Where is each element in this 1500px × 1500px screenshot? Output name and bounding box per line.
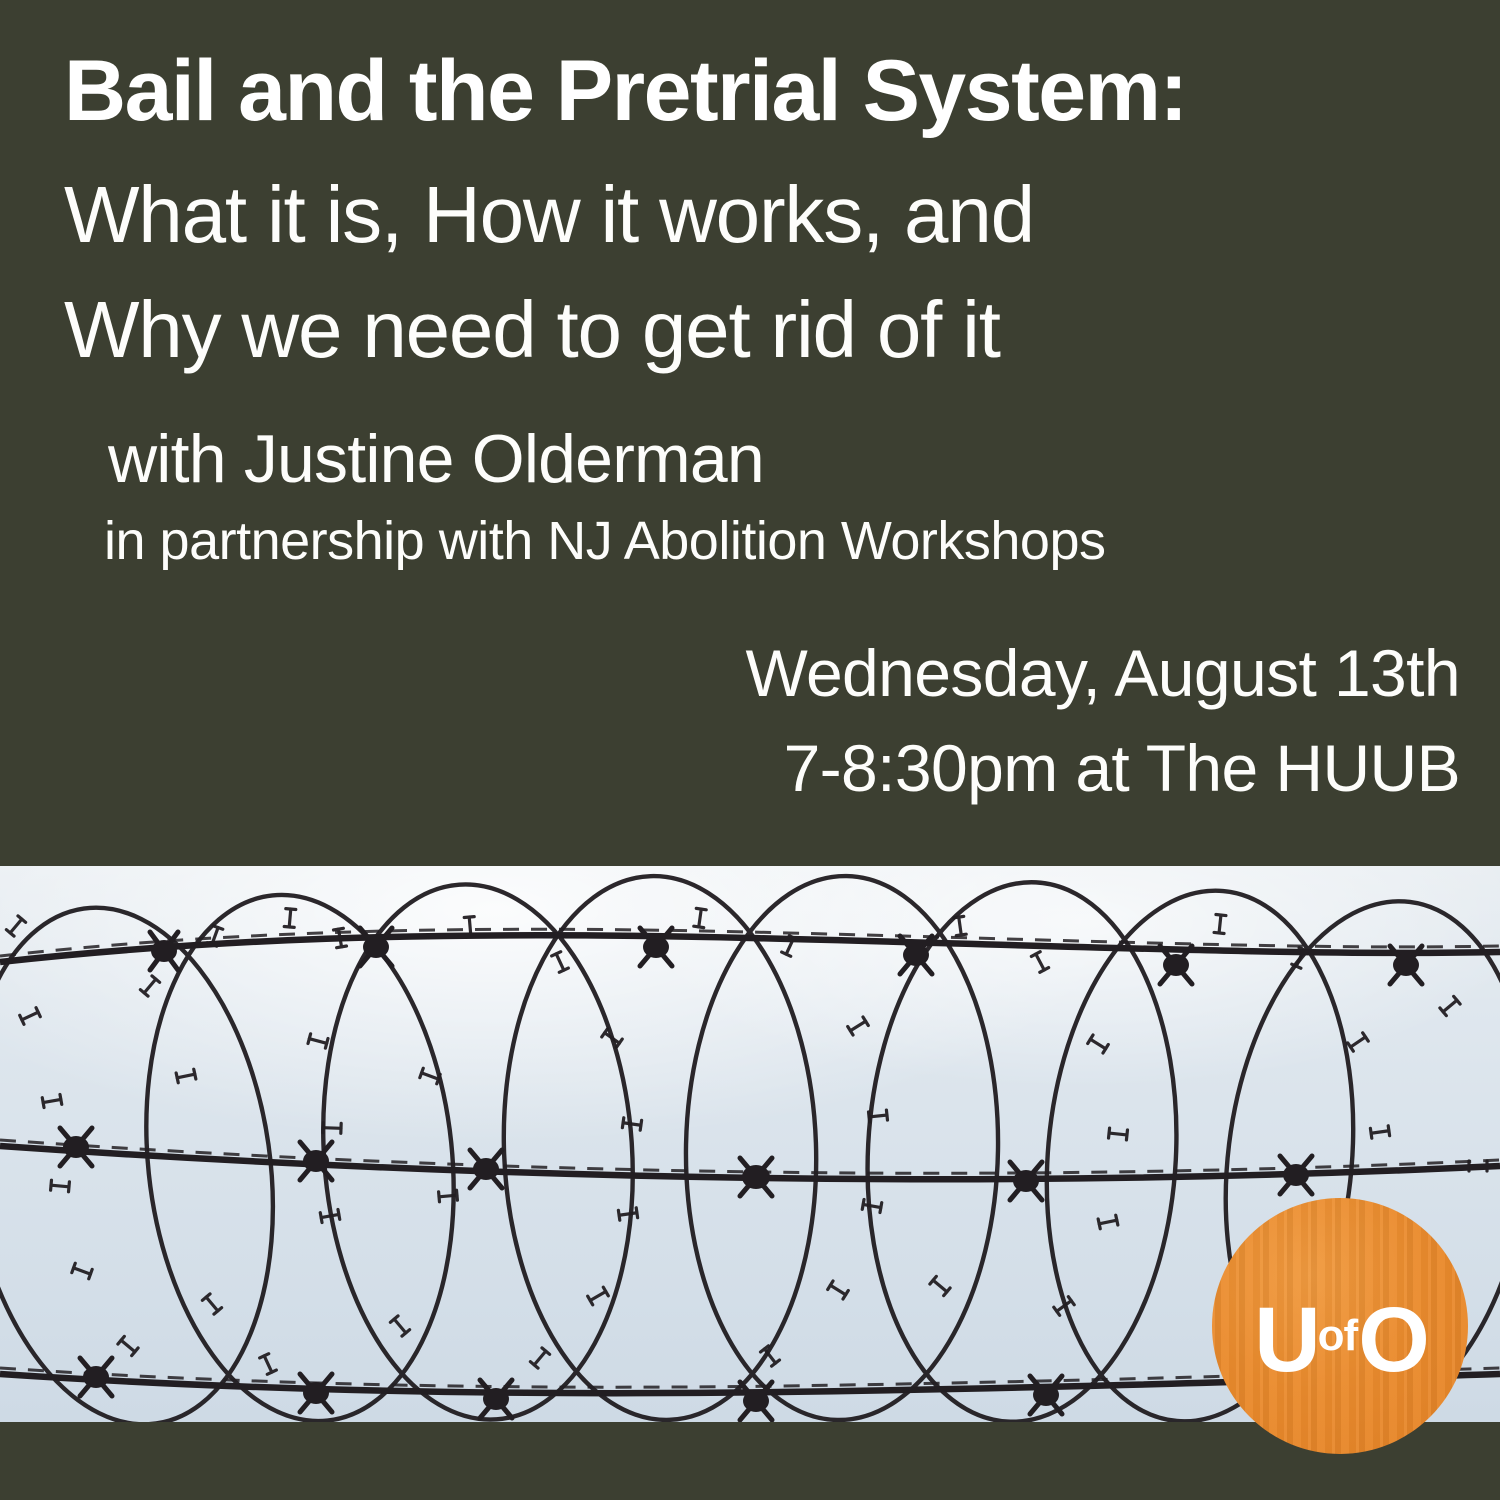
event-date: Wednesday, August 13th [745, 635, 1460, 711]
page-title: Bail and the Pretrial System: [64, 46, 1464, 136]
speaker-name: with Justine Olderman [108, 420, 764, 498]
logo-connector-of: of [1317, 1314, 1359, 1358]
subtitle-line-2: Why we need to get rid of it [64, 290, 1464, 370]
subtitle-line-1: What it is, How it works, and [64, 175, 1464, 255]
uofo-logo: UofO [1212, 1198, 1468, 1454]
logo-letter-o: O [1358, 1294, 1426, 1386]
poster-text-area: Bail and the Pretrial System: What it is… [0, 0, 1500, 866]
partnership-credit: in partnership with NJ Abolition Worksho… [104, 510, 1106, 572]
event-poster: Bail and the Pretrial System: What it is… [0, 0, 1500, 1500]
logo-wordmark: UofO [1254, 1294, 1426, 1386]
logo-letter-u: U [1254, 1294, 1316, 1386]
event-time-and-location: 7-8:30pm at The HUUB [784, 730, 1460, 806]
